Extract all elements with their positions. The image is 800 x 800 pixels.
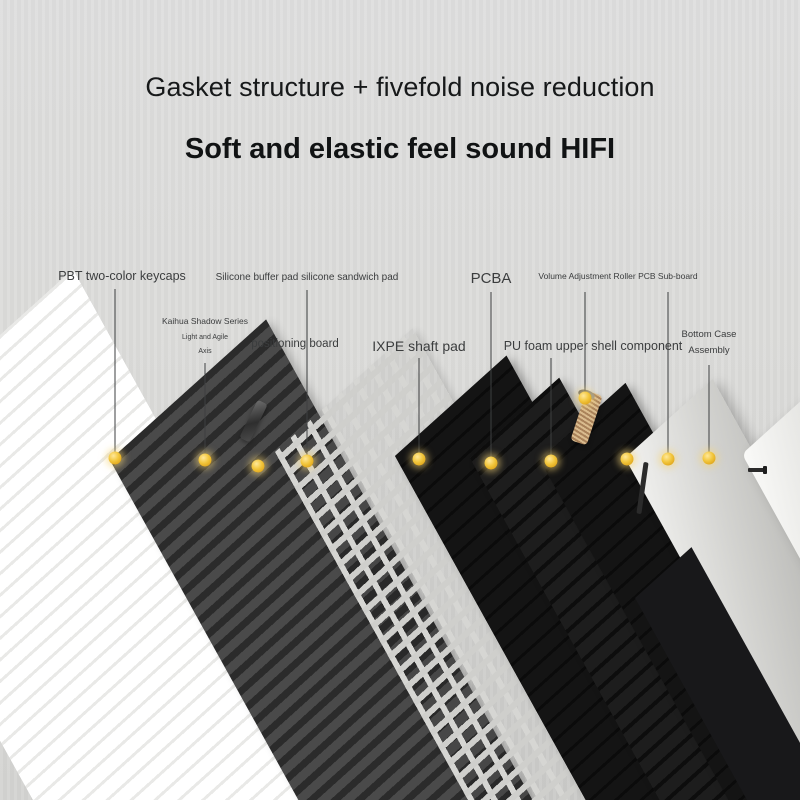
headline-secondary: Soft and elastic feel sound HIFI <box>0 133 800 166</box>
marker-dot-ixpe-shaft-pad <box>413 453 426 466</box>
marker-dot-kaihua <box>199 454 212 467</box>
headline-primary: Gasket structure + fivefold noise reduct… <box>0 72 800 103</box>
callout-label-pbt-keycaps: PBT two-color keycaps <box>58 268 186 285</box>
marker-dot-bottom-case-assembly <box>703 452 716 465</box>
leader-line-ixpe-shaft-pad <box>419 358 420 456</box>
callout-label-kaihua-line3: Axis <box>198 347 211 356</box>
marker-dot-pcba <box>485 457 498 470</box>
callout-label-kaihua-line2: Light and Agile <box>182 333 228 342</box>
product-exploded-view: Gasket structure + fivefold noise reduct… <box>0 0 800 800</box>
callout-label-kaihua-line1: Kaihua Shadow Series <box>162 316 248 327</box>
marker-dot-pcb-mid <box>662 453 675 466</box>
leader-line-pcba <box>491 292 492 459</box>
callout-label-ixpe-shaft-pad: IXPE shaft pad <box>372 337 465 356</box>
leader-line-kaihua <box>205 363 206 458</box>
callout-label-pu-foam-upper-shell: PU foam upper shell component <box>504 338 683 355</box>
leader-line-pbt-keycaps <box>115 289 116 456</box>
marker-dot-silicone-buffer-pad <box>252 460 265 473</box>
marker-dot-positioning-board <box>301 455 314 468</box>
marker-dot-upper-shell-right <box>621 453 634 466</box>
screw-part <box>748 468 764 472</box>
leader-line-volume-roller-subboard <box>585 292 586 397</box>
marker-dot-volume-roller-subboard <box>579 392 592 405</box>
keyboard-exploded-artwork <box>0 430 800 800</box>
leader-line-upper-shell-right <box>668 292 669 454</box>
callout-label-pcba: PCBA <box>471 269 512 289</box>
callout-label-silicone-buffer-pad: Silicone buffer pad silicone sandwich pa… <box>216 271 399 285</box>
callout-label-volume-roller-subboard: Volume Adjustment Roller PCB Sub-board <box>538 271 697 282</box>
leader-line-pu-foam-upper-shell <box>551 358 552 456</box>
marker-dot-pu-foam-upper-shell <box>545 455 558 468</box>
callout-label-bottom-case-line1: Bottom Case <box>682 329 737 342</box>
leader-line-positioning-board <box>307 360 308 458</box>
marker-dot-pbt-keycaps <box>109 452 122 465</box>
heading-block: Gasket structure + fivefold noise reduct… <box>0 0 800 166</box>
callout-label-positioning-board: positioning board <box>251 337 339 353</box>
screw-part-head <box>763 466 767 474</box>
leader-line-bottom-case-assembly <box>709 365 710 458</box>
callout-label-bottom-case-line2: Assembly <box>688 345 729 358</box>
